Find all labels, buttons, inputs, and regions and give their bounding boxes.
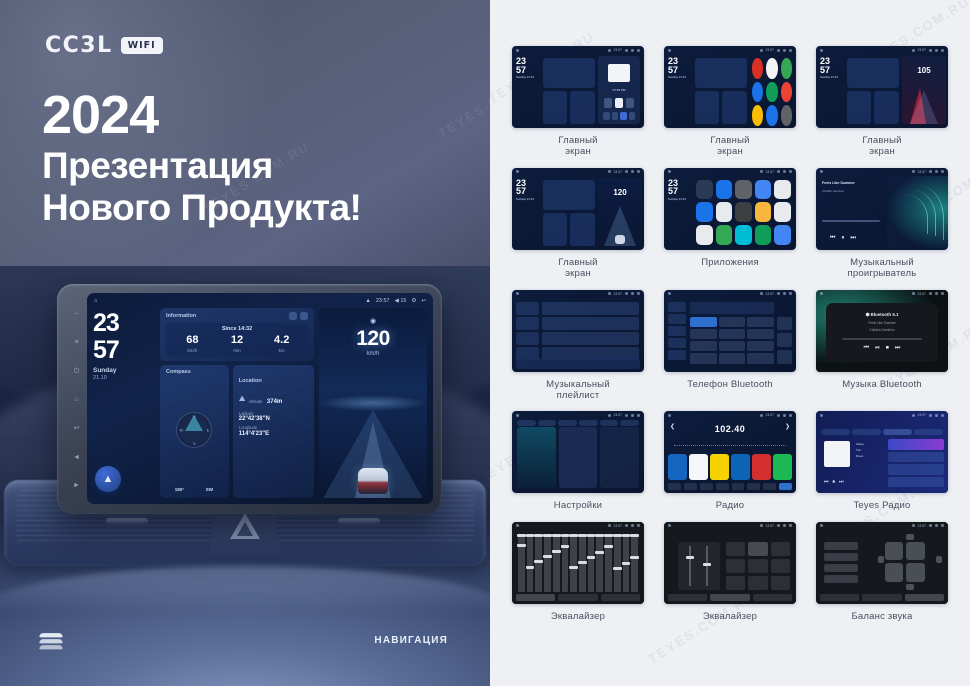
console-slot-left <box>106 518 148 524</box>
screen-thumbnail[interactable]: 23:572357Sunday 21.10 105 <box>816 46 948 128</box>
trip-since-label: Since 14:32 <box>170 326 304 332</box>
compass-e: E <box>207 427 210 432</box>
screen-thumbnail[interactable]: 23:57 <box>664 522 796 604</box>
screen-thumbnail[interactable]: 23:57 <box>816 522 948 604</box>
grid-cell: 23:57Feels Like Summer Childish Gambino … <box>816 168 948 280</box>
screen-thumbnail[interactable]: 23:572357Sunday 21.10 <box>664 168 796 250</box>
compass-degrees: 180° <box>166 485 193 494</box>
screen-thumbnail[interactable]: 23:572357Sunday 21.10 <box>664 46 796 128</box>
hazard-triangle-icon <box>230 513 260 539</box>
hero-panel: TEYES.COM.RU TEYES.COM.RU TEYES.COM.RU T… <box>0 0 490 686</box>
thumbnail-caption: Телефон Bluetooth <box>664 379 796 390</box>
grid-cell: 23:57 Эквалайзер <box>664 522 796 622</box>
speed-value: 120 <box>319 327 427 351</box>
compass-dial: N S W E <box>176 412 212 448</box>
presentation-slide: TEYES.COM.RU TEYES.COM.RU TEYES.COM.RU T… <box>0 0 970 686</box>
side-button[interactable]: ◄ <box>73 454 80 461</box>
grid-cell: 23:57 Настройки <box>512 411 644 511</box>
thumbnail-caption: Главный экран <box>816 135 948 158</box>
trip-stat: 4.2 km <box>259 335 304 353</box>
grid-cell: 23:57102.40 ❮ ❯ Радио <box>664 411 796 511</box>
stat-unit: km/h <box>170 348 215 353</box>
grid-cell: 23:57 ⬢ Bluetooth 5.1 Feels Like Summer … <box>816 290 948 402</box>
stat-value: 12 <box>215 335 260 346</box>
stat-value: 4.2 <box>259 335 304 346</box>
compass-card[interactable]: Compass N S W E <box>160 365 229 499</box>
hero-headline: 2024 Презентация Нового Продукта! <box>42 88 462 228</box>
speedometer-widget[interactable]: ◉ 120 km/h <box>319 308 427 498</box>
layers-icon <box>40 632 62 650</box>
screenshot-grid: 23:572357Sunday 21.10 07:50 PM Главный э… <box>512 46 948 622</box>
speed-unit: km/h <box>319 351 427 357</box>
expand-icon[interactable] <box>300 312 308 320</box>
stat-unit: min <box>215 348 260 353</box>
grid-cell: 23:572357Sunday 21.10 105 Главный экран <box>816 46 948 158</box>
mountain-icon: ⛰ <box>239 394 246 404</box>
screen-thumbnail[interactable]: 23:57 <box>512 411 644 493</box>
trip-stat: 12 min <box>215 335 260 353</box>
grid-cell: 23:57 Баланс звука <box>816 522 948 622</box>
status-time: 23:57 <box>376 298 390 304</box>
altitude-label: Altitude <box>249 399 263 404</box>
location-card[interactable]: Location ⛰ Altitude 374m <box>233 365 314 499</box>
side-button[interactable]: ≡ <box>74 339 78 346</box>
clock-minutes: 57 <box>93 339 155 362</box>
screen-thumbnail[interactable]: 23:57102.40 ❮ ❯ <box>664 411 796 493</box>
screen-thumbnail[interactable]: 23:57Feels Like Summer Childish Gambino … <box>816 168 948 250</box>
car-interior-photo: − ≡ ⏻ ⌂ ↩ ◄ ► ⌂ ▲ 23:57 ◀15 <box>0 266 490 686</box>
screen-thumbnail[interactable]: 23:57 ЖанрТипЯзык ⏮⏹⏭ <box>816 411 948 493</box>
compass-w: W <box>179 427 183 432</box>
clock-day: Sunday <box>93 367 155 374</box>
clock-widget[interactable]: 23 57 Sunday 21.10 ▲ <box>93 308 155 498</box>
head-unit-side-buttons[interactable]: − ≡ ⏻ ⌂ ↩ ◄ ► <box>69 300 84 500</box>
trip-stats: 68 km/h 12 min 4.2 <box>170 335 304 353</box>
thumbnail-caption: Главный экран <box>512 135 644 158</box>
navigation-arrow-icon: ▲ <box>103 473 114 485</box>
grid-cell: 23:57 Музыкальный плейлист <box>512 290 644 402</box>
longitude-label: Longitude <box>239 425 308 430</box>
head-unit-screen[interactable]: ⌂ ▲ 23:57 ◀15 ⚙ ↩ 23 57 Sunday <box>87 293 433 504</box>
stat-unit: km <box>259 348 304 353</box>
volume-value: 15 <box>400 298 406 304</box>
cruise-icon: ◉ <box>370 317 376 325</box>
screen-thumbnail[interactable]: 23:572357Sunday 21.10 07:50 PM <box>512 46 644 128</box>
grid-cell: 23:57 Эквалайзер <box>512 522 644 622</box>
stat-value: 68 <box>170 335 215 346</box>
thumbnail-caption: Баланс звука <box>816 611 948 622</box>
longitude-value: 114°4'23"E <box>239 431 308 437</box>
logo-wifi-badge: WIFI <box>121 37 163 54</box>
compass-n: N <box>193 414 196 419</box>
side-button[interactable]: ↩ <box>74 425 80 432</box>
screen-thumbnail[interactable]: 23:57 <box>512 290 644 372</box>
back-icon[interactable]: ↩ <box>421 298 426 304</box>
brand-logo: CC3L WIFI <box>45 33 163 58</box>
thumbnail-caption: Музыка Bluetooth <box>816 379 948 390</box>
refresh-icon[interactable] <box>289 312 297 320</box>
location-title: Location <box>239 378 262 384</box>
compass-title: Compass <box>166 369 223 375</box>
screen-thumbnail[interactable]: 23:57 <box>664 290 796 372</box>
compass-direction: SW <box>196 485 223 494</box>
thumbnail-caption: Главный экран <box>664 135 796 158</box>
thumbnail-caption: Настройки <box>512 500 644 511</box>
gear-icon[interactable]: ⚙ <box>411 298 416 304</box>
thumbnail-caption: Радио <box>664 500 796 511</box>
clock-hours: 23 <box>93 312 155 335</box>
trip-stat: 68 km/h <box>170 335 215 353</box>
screen-thumbnail[interactable]: 23:57 <box>512 522 644 604</box>
hero-line-1: Презентация <box>42 145 462 186</box>
head-unit-device: − ≡ ⏻ ⌂ ↩ ◄ ► ⌂ ▲ 23:57 ◀15 <box>57 284 442 514</box>
thumbnail-caption: Главный экран <box>512 257 644 280</box>
grid-cell: 23:572357Sunday 21.10 Приложения <box>664 168 796 280</box>
screenshot-grid-panel: TEYES.COM.RU TEYES.COM.RU TEYES.COM.RU T… <box>490 0 970 686</box>
grid-cell: 23:572357Sunday 21.10 Главный экран <box>664 46 796 158</box>
altitude-value: 374m <box>267 399 282 405</box>
information-card[interactable]: Information Since 14:32 68 <box>160 308 314 361</box>
thumbnail-caption: Приложения <box>664 257 796 268</box>
console-slot-right <box>338 518 380 524</box>
hero-year: 2024 <box>42 88 462 143</box>
information-title: Information <box>166 313 196 319</box>
volume-indicator[interactable]: ◀15 <box>395 298 407 304</box>
logo-model-text: CC3L <box>45 33 113 58</box>
car-graphic <box>358 468 388 494</box>
thumbnail-caption: Музыкальный плейлист <box>512 379 644 402</box>
navigation-label: НАВИГАЦИЯ <box>374 635 448 646</box>
home-icon[interactable]: ⌂ <box>94 298 97 304</box>
navigation-button[interactable]: ▲ <box>95 466 121 492</box>
side-button[interactable]: − <box>74 311 78 318</box>
side-button[interactable]: ⌂ <box>74 396 78 403</box>
screen-thumbnail[interactable]: 23:572357Sunday 21.10 120 <box>512 168 644 250</box>
wifi-icon[interactable]: ▲ <box>365 298 370 304</box>
thumbnail-caption: Музыкальный проигрыватель <box>816 257 948 280</box>
grid-cell: 23:572357Sunday 21.10 07:50 PM Главный э… <box>512 46 644 158</box>
thumbnail-caption: Эквалайзер <box>512 611 644 622</box>
grid-cell: 23:57 Телефон Bluetooth <box>664 290 796 402</box>
status-bar: ⌂ ▲ 23:57 ◀15 ⚙ ↩ <box>87 293 433 308</box>
thumbnail-caption: Эквалайзер <box>664 611 796 622</box>
latitude-label: Latitude <box>239 411 308 416</box>
side-button[interactable]: ⏻ <box>74 368 80 375</box>
grid-cell: 23:572357Sunday 21.10 120 Главный экран <box>512 168 644 280</box>
compass-s: S <box>193 441 196 446</box>
screen-thumbnail[interactable]: 23:57 ⬢ Bluetooth 5.1 Feels Like Summer … <box>816 290 948 372</box>
side-button[interactable]: ► <box>73 482 80 489</box>
clock-date: 21.10 <box>93 375 155 381</box>
hero-line-2: Нового Продукта! <box>42 187 462 228</box>
latitude-value: 22°42'38"N <box>239 416 308 422</box>
thumbnail-caption: Teyes Радио <box>816 500 948 511</box>
grid-cell: 23:57 ЖанрТипЯзык ⏮⏹⏭ Teyes Радио <box>816 411 948 511</box>
